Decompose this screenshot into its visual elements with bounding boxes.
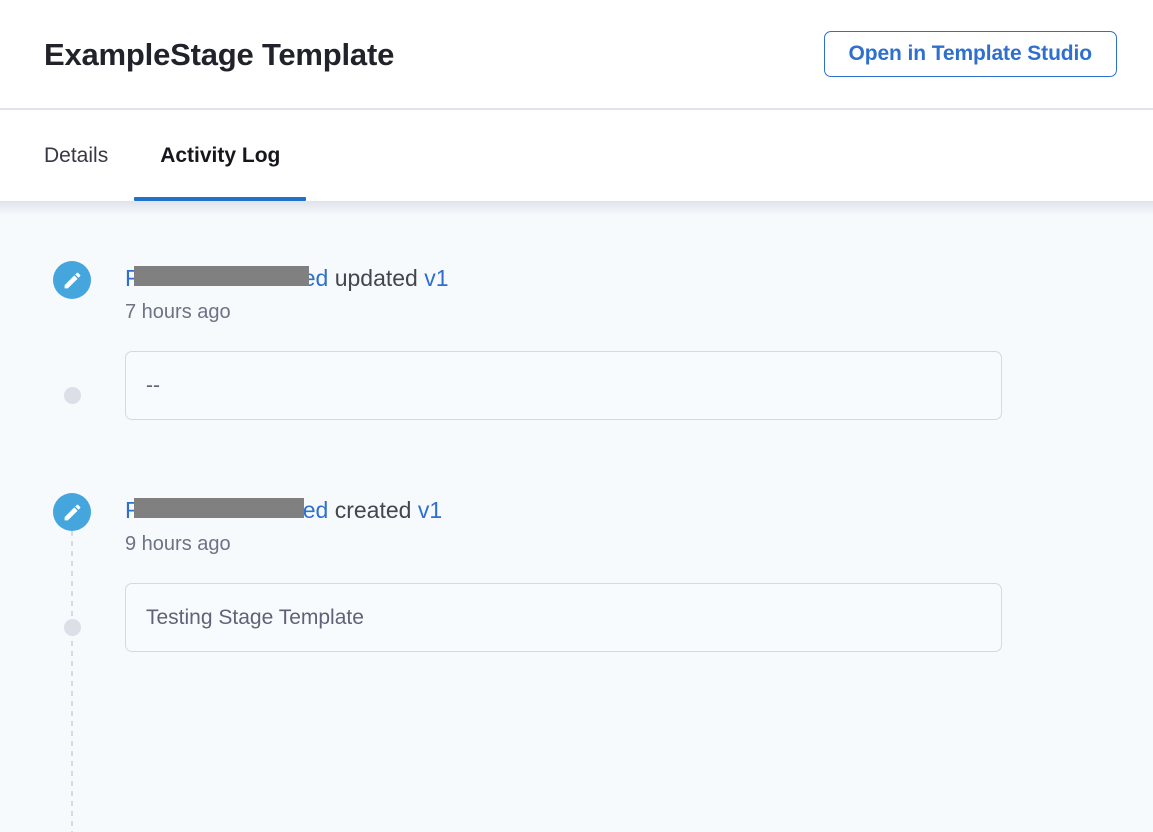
activity-log-page: ExampleStage Template Open in Template S… (0, 0, 1153, 832)
tab-activity-log[interactable]: Activity Log (134, 110, 306, 201)
activity-entry-body: Testing Stage Template (0, 583, 1153, 652)
activity-action-text: updated (328, 265, 424, 291)
page-title: ExampleStage Template (44, 39, 394, 70)
activity-entry-text: Redacted Redacted created v1 9 hours ago (125, 493, 442, 556)
tab-bar: Details Activity Log (0, 110, 1153, 201)
open-in-template-studio-button[interactable]: Open in Template Studio (824, 31, 1118, 77)
activity-entry-header: Redacted Redacted created v1 9 hours ago (0, 493, 1153, 556)
actor-name[interactable]: Redacted Redacted (125, 263, 328, 294)
activity-comment-box[interactable]: Testing Stage Template (125, 583, 1002, 652)
activity-entry: Redacted Redacted updated v1 7 hours ago… (0, 261, 1153, 420)
activity-entry-header: Redacted Redacted updated v1 7 hours ago (0, 261, 1153, 324)
activity-entry-line: Redacted Redacted created v1 (125, 495, 442, 526)
activity-action-text: created (328, 497, 418, 523)
entry-spacer (0, 420, 1153, 493)
activity-timeline: Redacted Redacted updated v1 7 hours ago… (0, 201, 1153, 652)
page-header: ExampleStage Template Open in Template S… (0, 0, 1153, 110)
timeline-node-dot (64, 619, 81, 636)
activity-entry-line: Redacted Redacted updated v1 (125, 263, 449, 294)
activity-timestamp: 9 hours ago (125, 533, 442, 556)
pencil-icon[interactable] (53, 493, 91, 531)
activity-timestamp: 7 hours ago (125, 301, 449, 324)
redaction-overlay (134, 266, 309, 286)
tab-details[interactable]: Details (44, 110, 134, 201)
activity-comment-box[interactable]: -- (125, 351, 1002, 420)
pencil-icon[interactable] (53, 261, 91, 299)
actor-name[interactable]: Redacted Redacted (125, 495, 328, 526)
redaction-overlay (134, 498, 304, 518)
activity-entry: Redacted Redacted created v1 9 hours ago… (0, 493, 1153, 652)
activity-entry-text: Redacted Redacted updated v1 7 hours ago (125, 261, 449, 324)
header-actions: Open in Template Studio (824, 31, 1118, 77)
timeline-node-dot (64, 387, 81, 404)
version-link[interactable]: v1 (418, 497, 442, 523)
activity-entry-body: -- (0, 351, 1153, 420)
version-link[interactable]: v1 (424, 265, 448, 291)
activity-log-content: Redacted Redacted updated v1 7 hours ago… (0, 201, 1153, 832)
